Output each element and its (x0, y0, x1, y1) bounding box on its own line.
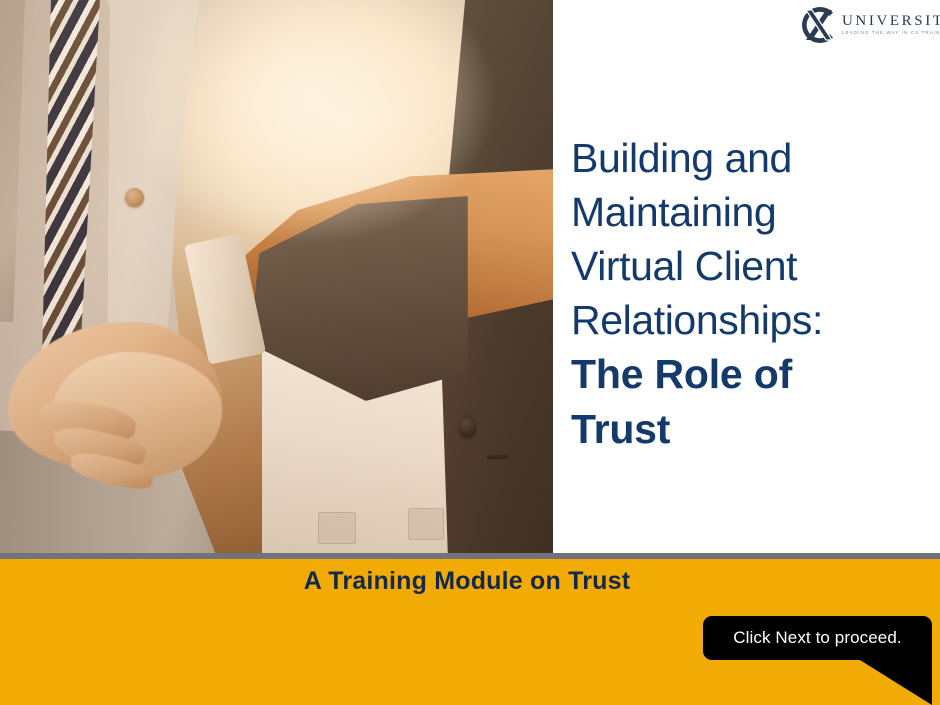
brand-logo: UNIVERSITY LEADING THE WAY IN CX TRAININ… (800, 4, 928, 46)
photo-suit-button (125, 188, 144, 207)
photo-wall-outlet (318, 512, 356, 544)
slide-canvas: UNIVERSITY LEADING THE WAY IN CX TRAININ… (0, 0, 940, 705)
xc-monogram-icon (800, 5, 840, 45)
title-line-4: Relationships: (571, 293, 923, 347)
callout-text: Click Next to proceed. (703, 616, 932, 660)
title-line-3: Virtual Client (571, 239, 923, 293)
logo-tagline-text: LEADING THE WAY IN CX TRAINING (842, 31, 940, 36)
title-line-6: Trust (571, 402, 923, 456)
subtitle: A Training Module on Trust (0, 567, 940, 596)
logo-university-text: UNIVERSITY (842, 14, 940, 29)
title-line-2: Maintaining (571, 185, 923, 239)
photo-right-suit-button (459, 415, 476, 438)
callout-bubble: Click Next to proceed. (703, 616, 932, 660)
title-line-5: The Role of (571, 347, 923, 401)
logo-wordmark-block: UNIVERSITY LEADING THE WAY IN CX TRAININ… (842, 14, 940, 36)
photo-wall-outlet (408, 508, 444, 540)
page-title: Building and Maintaining Virtual Client … (571, 131, 923, 456)
handshake-photo (0, 0, 553, 553)
title-line-1: Building and (571, 131, 923, 185)
